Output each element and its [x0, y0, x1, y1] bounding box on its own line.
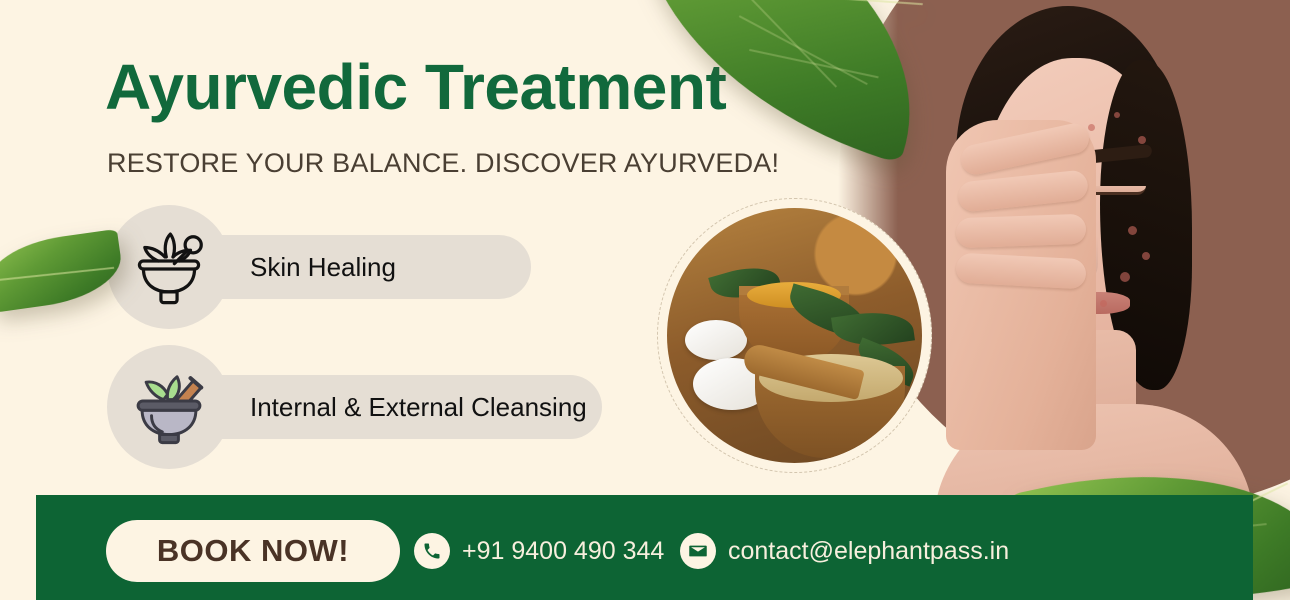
page-title: Ayurvedic Treatment	[105, 50, 726, 124]
model-finger	[956, 214, 1087, 249]
contact-email[interactable]: contact@elephantpass.in	[680, 533, 1009, 569]
mortar-pestle-leaves-icon	[126, 362, 212, 453]
spa-stone	[685, 320, 747, 360]
acne-spot	[1114, 112, 1120, 118]
phone-number: +91 9400 490 344	[462, 537, 664, 566]
acne-spot	[1100, 300, 1107, 307]
acne-spot	[1138, 136, 1146, 144]
book-now-button[interactable]: BOOK NOW!	[106, 520, 400, 582]
feature-label: Skin Healing	[250, 252, 396, 283]
phone-icon	[414, 533, 450, 569]
envelope-icon	[680, 533, 716, 569]
acne-spot	[1142, 252, 1150, 260]
book-now-label: BOOK NOW!	[157, 533, 349, 569]
email-address: contact@elephantpass.in	[728, 537, 1009, 566]
acne-spot	[1088, 124, 1095, 131]
feature-icon-badge-2	[107, 345, 231, 469]
contact-phone[interactable]: +91 9400 490 344	[414, 533, 664, 569]
acne-spot	[1120, 272, 1130, 282]
product-photo	[667, 208, 922, 463]
ayurvedic-treatment-banner: Ayurvedic Treatment RESTORE YOUR BALANCE…	[0, 0, 1290, 600]
product-photo-ring	[657, 198, 932, 473]
page-subtitle: RESTORE YOUR BALANCE. DISCOVER AYURVEDA!	[107, 148, 779, 179]
acne-spot	[1128, 226, 1137, 235]
decorative-leaf-left	[0, 229, 126, 313]
mortar-pestle-herbs-icon	[126, 222, 212, 313]
feature-icon-badge-1	[107, 205, 231, 329]
feature-label: Internal & External Cleansing	[250, 392, 587, 423]
